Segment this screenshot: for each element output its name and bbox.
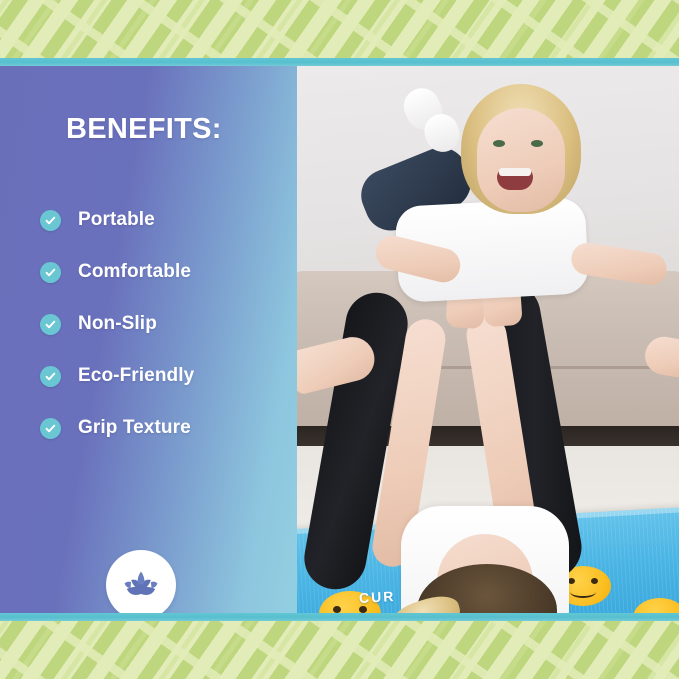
- check-circle-icon: [40, 418, 61, 439]
- check-circle-icon: [40, 314, 61, 335]
- top-teal-divider: [0, 58, 679, 66]
- child-eye-left: [493, 140, 505, 147]
- product-infographic-canvas: BENEFITS: Portable: [0, 0, 679, 679]
- page-title: BENEFITS:: [66, 113, 222, 146]
- list-item: Grip Texture: [40, 402, 290, 454]
- check-circle-icon: [40, 210, 61, 231]
- benefit-label: Non-Slip: [78, 313, 157, 335]
- child-face: [477, 108, 565, 212]
- benefits-list: Portable Comfortable: [40, 194, 290, 454]
- list-item: Eco-Friendly: [40, 350, 290, 402]
- child-eye-right: [531, 140, 543, 147]
- top-decorative-band: [0, 0, 679, 58]
- benefit-label: Comfortable: [78, 261, 191, 283]
- list-item: Comfortable: [40, 246, 290, 298]
- diagonal-dash-pattern: [0, 621, 679, 679]
- check-circle-icon: [40, 366, 61, 387]
- benefit-label: Grip Texture: [78, 417, 191, 439]
- mat-word-left: CUR: [359, 588, 396, 606]
- benefit-label: Eco-Friendly: [78, 365, 194, 387]
- list-item: Portable: [40, 194, 290, 246]
- check-circle-icon: [40, 262, 61, 283]
- benefit-label: Portable: [78, 209, 155, 231]
- benefits-panel: BENEFITS: Portable: [0, 66, 297, 613]
- list-item: Non-Slip: [40, 298, 290, 350]
- main-content-area: BENEFITS: Portable: [0, 66, 679, 613]
- child-open-mouth: [497, 168, 533, 190]
- brand-logo-badge: [106, 550, 176, 613]
- lotus-flower-icon: [120, 569, 162, 601]
- diagonal-dash-pattern: [0, 0, 679, 58]
- product-lifestyle-photo: CUR NNY: [297, 66, 679, 613]
- bottom-decorative-band: [0, 621, 679, 679]
- bottom-teal-divider: [0, 613, 679, 621]
